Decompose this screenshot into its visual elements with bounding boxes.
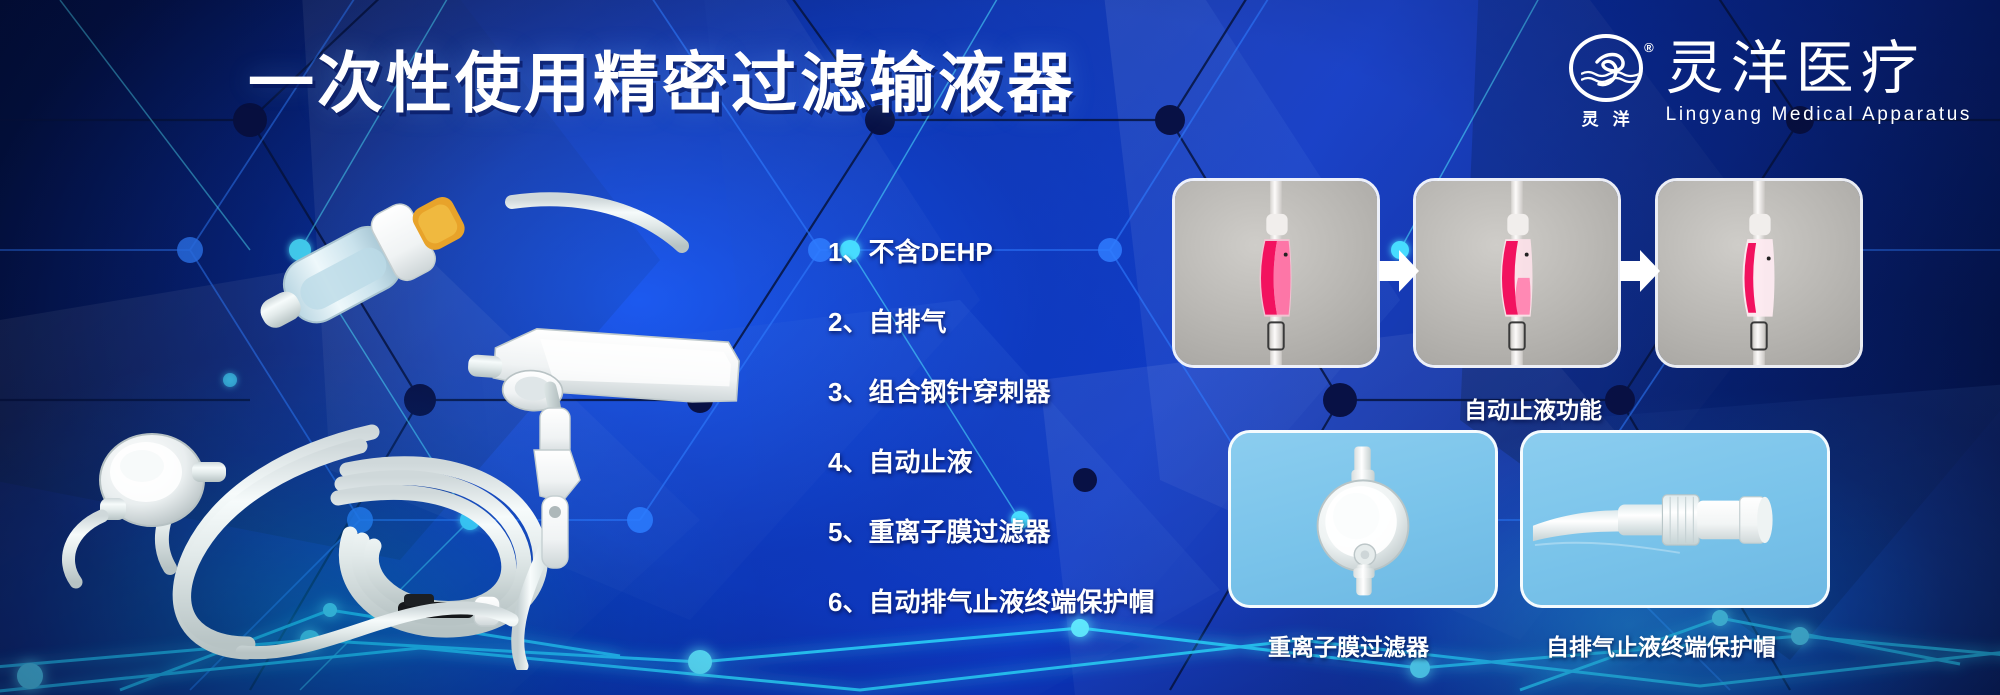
drip-chamber-illustration — [1487, 181, 1547, 365]
brand-name-en: Lingyang Medical Apparatus — [1666, 104, 1972, 126]
heavy-ion-filter-illustration — [1231, 433, 1495, 605]
terminal-cap-illustration — [1523, 433, 1827, 605]
brand-name-cn: 灵洋医疗 — [1666, 38, 1972, 100]
logo-mark-subtext: 灵洋 — [1568, 105, 1644, 130]
brand-logo: ® 灵洋 灵洋医疗 Lingyang Medical Apparatus — [1560, 34, 1972, 130]
feature-item-6: 6、自动排气止液终端保护帽 — [828, 582, 1248, 619]
arrow-right-icon-1 — [1379, 248, 1419, 294]
photo-card-heavy-ion-filter — [1228, 430, 1498, 608]
arrow-right-icon-2 — [1620, 248, 1660, 294]
drip-chamber-illustration — [1246, 181, 1306, 365]
caption-auto-stop-function: 自动止液功能 — [1464, 391, 1602, 425]
logo-circle-icon — [1569, 34, 1643, 102]
drip-chamber-illustration — [1729, 181, 1789, 365]
page-title: 一次性使用精密过滤输液器 — [248, 42, 1028, 124]
logo-wave-icon — [1581, 70, 1639, 86]
feature-item-4: 4、自动止液 — [828, 442, 1248, 479]
logo-mark-char-right: 洋 — [1613, 110, 1644, 129]
hero-product-image — [42, 150, 812, 670]
feature-item-5: 5、重离子膜过滤器 — [828, 512, 1248, 549]
logo-mark-char-left: 灵 — [1582, 110, 1613, 129]
caption-heavy-ion-filter: 重离子膜过滤器 — [1268, 628, 1429, 662]
logo-emblem-icon: ® 灵洋 — [1560, 34, 1652, 130]
photo-card-auto-stop-step-1 — [1172, 178, 1380, 368]
photo-card-auto-stop-step-3 — [1655, 178, 1863, 368]
banner-root: 一次性使用精密过滤输液器 ® 灵洋 灵洋医疗 Lingyang Medical … — [0, 0, 2000, 695]
photo-card-terminal-protective-cap — [1520, 430, 1830, 608]
photo-card-auto-stop-step-2 — [1413, 178, 1621, 368]
caption-terminal-protective-cap: 自排气止液终端保护帽 — [1546, 628, 1776, 662]
brand-name-block: 灵洋医疗 Lingyang Medical Apparatus — [1666, 38, 1972, 126]
feature-item-3: 3、组合钢针穿刺器 — [828, 372, 1248, 409]
registered-mark: ® — [1644, 40, 1654, 55]
